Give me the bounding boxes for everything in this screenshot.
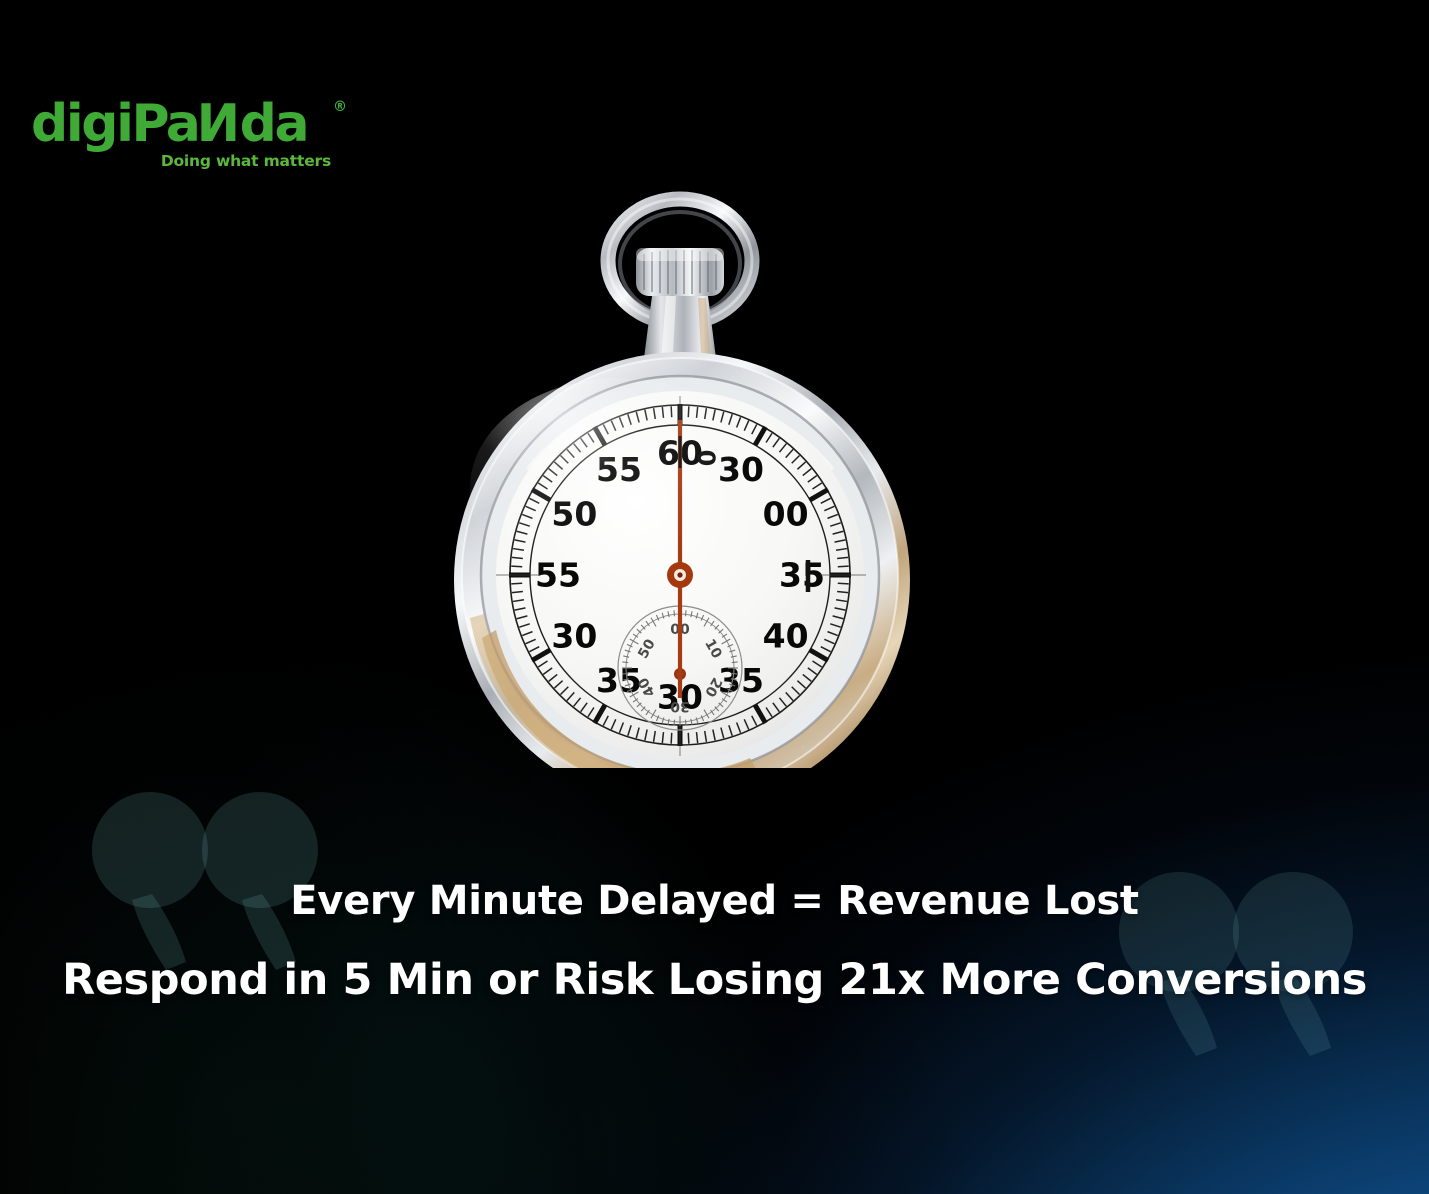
dial-number: 30 [551,617,597,656]
stopwatch-crown [636,248,724,296]
logo-flipped-n: N [199,98,240,150]
brand-logo-wordmark: digiPaNda® [31,98,331,150]
dial-number: 35 [779,556,825,595]
poster-canvas: digiPaNda® Doing what matters [0,0,1429,1194]
logo-text-part2: da [240,94,308,154]
headline-line-1: Every Minute Delayed = Revenue Lost [0,878,1429,924]
subdial-number: 30 [670,698,690,714]
dial-number: 00 [763,495,809,534]
brand-logo[interactable]: digiPaNda® Doing what matters [31,98,331,180]
stopwatch-image: 603000354035303530555055 001020304050 [430,168,930,768]
brand-tagline: Doing what matters [31,152,331,170]
registered-trademark-icon: ® [333,100,347,114]
headline-block: Every Minute Delayed = Revenue Lost Resp… [0,878,1429,1005]
logo-text-part1: digiPa [31,94,199,154]
dial-number: 40 [763,617,809,656]
headline-line-2: Respond in 5 Min or Risk Losing 21x More… [0,956,1429,1005]
